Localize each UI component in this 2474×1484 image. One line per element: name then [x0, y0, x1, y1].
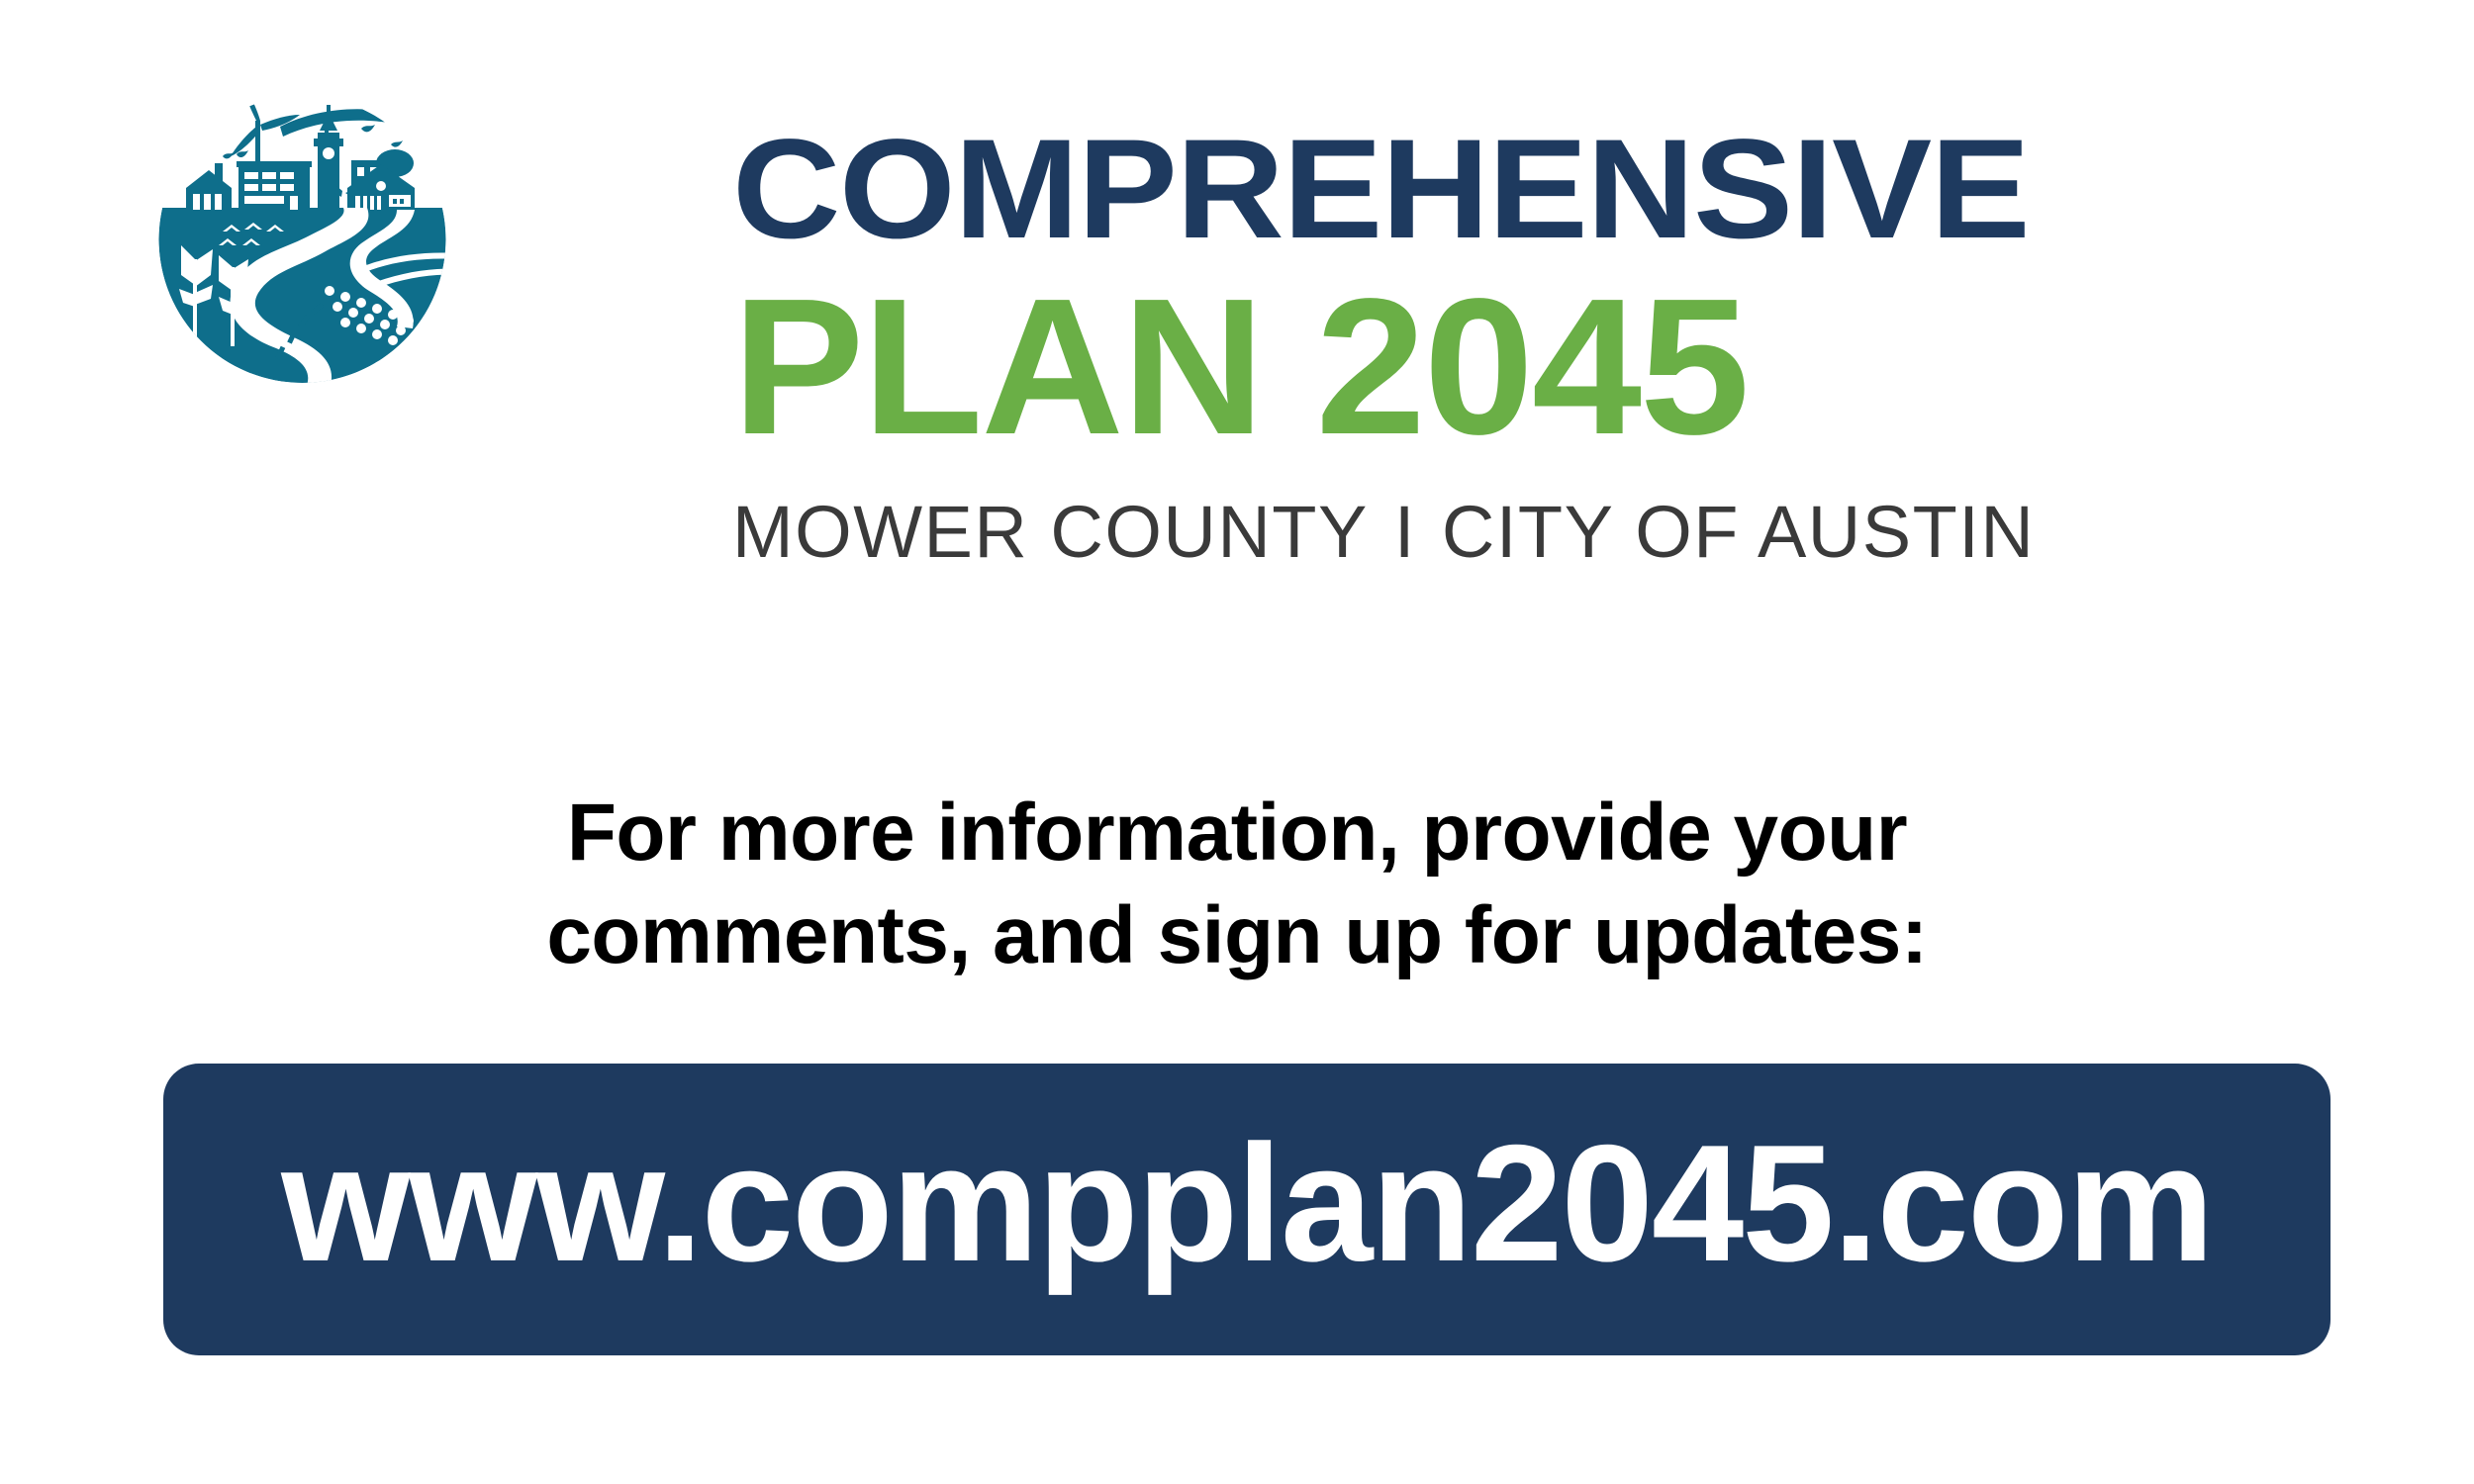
poster-root: COMPREHENSIVE PLAN 2045 MOWER COUNTYICIT… — [0, 0, 2474, 1484]
call-to-action-block: For more information, provide your comme… — [0, 782, 2474, 987]
website-url-text[interactable]: www.compplan2045.com — [281, 1120, 2213, 1300]
website-url-banner[interactable]: www.compplan2045.com — [163, 1064, 2331, 1355]
wordmark-line-comprehensive: COMPREHENSIVE — [732, 119, 2474, 260]
jurisdiction-mower-county: MOWER COUNTY — [732, 491, 1369, 573]
brand-lockup: COMPREHENSIVE PLAN 2045 MOWER COUNTYICIT… — [0, 0, 2474, 693]
wordmark-line-plan-2045: PLAN 2045 — [732, 270, 2408, 464]
jurisdiction-separator: I — [1369, 491, 1442, 573]
cta-line-2: comments, and sign up for updates: — [0, 884, 2474, 987]
wordmark-jurisdictions: MOWER COUNTYICITY OF AUSTIN — [732, 496, 2375, 569]
wordmark: COMPREHENSIVE PLAN 2045 MOWER COUNTYICIT… — [732, 119, 2375, 673]
comprehensive-plan-logo-icon — [132, 61, 473, 403]
cta-line-1: For more information, provide your — [0, 782, 2474, 884]
jurisdiction-city-of-austin: CITY OF AUSTIN — [1442, 491, 2035, 573]
